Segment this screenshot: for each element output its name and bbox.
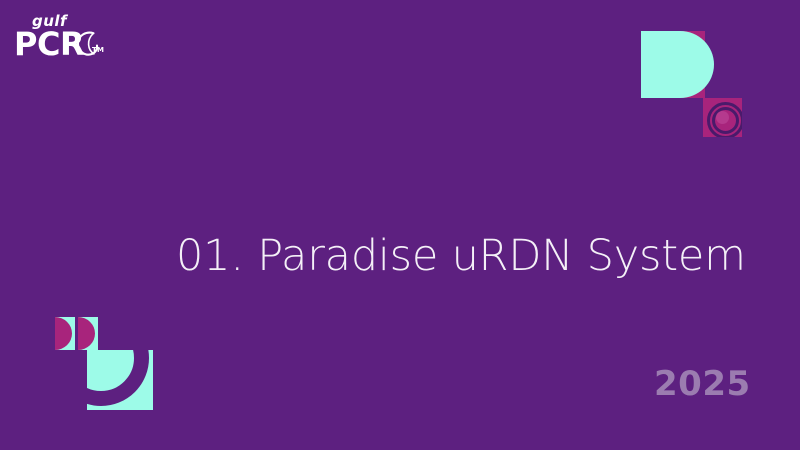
presentation-slide: gulf PCR TM 01. Paradise	[0, 0, 800, 450]
logo-trademark-text: TM	[92, 47, 104, 54]
concentric-circles-square-shape	[703, 98, 742, 137]
purple-quarter-arc-shape	[87, 350, 149, 406]
mint-mini-square-shape	[78, 317, 98, 350]
magenta-half-disc-shape	[55, 317, 72, 350]
mint-rectangle-shape	[641, 31, 680, 98]
geometric-deco-bottom-left	[55, 317, 155, 412]
mint-mini-square-shape	[55, 317, 75, 350]
slide-year: 2025	[654, 367, 751, 401]
brand-logo: gulf PCR TM	[14, 14, 214, 66]
magenta-half-disc-shape	[78, 317, 95, 350]
geometric-deco-top-right	[641, 31, 742, 137]
ring-center-shape	[716, 111, 729, 124]
mint-half-disc-shape	[680, 31, 714, 98]
slide-title: 01. Paradise uRDN System	[176, 231, 746, 282]
mint-large-square-shape	[87, 350, 153, 410]
